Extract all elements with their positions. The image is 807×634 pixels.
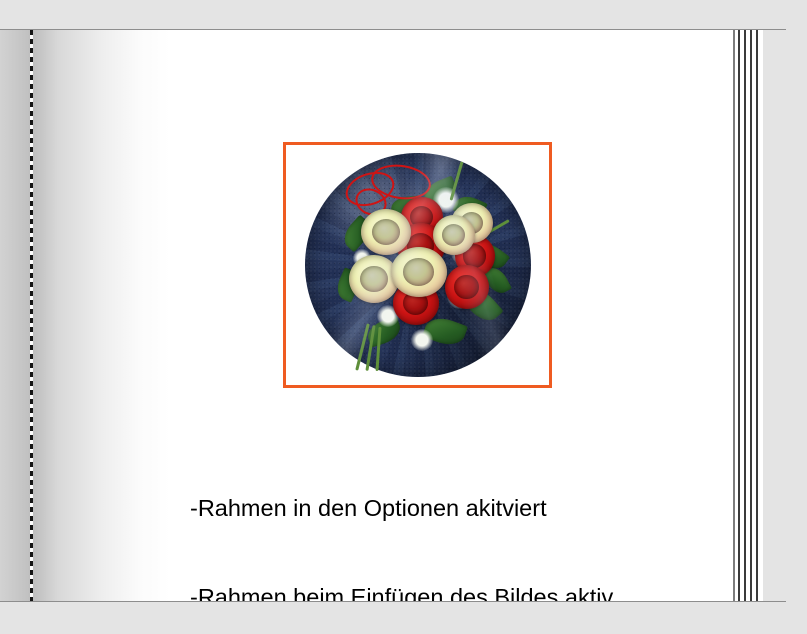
rose-cream — [391, 247, 447, 297]
photo-canvas — [292, 151, 543, 379]
book-page: -Rahmen in den Optionen akitviert -Rahme… — [0, 29, 786, 602]
dashed-binding-line-icon — [30, 30, 33, 601]
page-right-margin — [763, 30, 786, 601]
slide-stage: -Rahmen in den Optionen akitviert -Rahme… — [0, 0, 807, 634]
page-stack-line-4 — [750, 30, 752, 601]
bullet-line-1: -Rahmen in den Optionen akitviert — [190, 494, 690, 524]
page-stack-line-5 — [756, 30, 758, 601]
page-stack-line-1 — [733, 30, 735, 601]
bouquet-image — [305, 153, 531, 377]
filler-flower — [411, 329, 433, 351]
page-stack-edges — [733, 30, 763, 601]
page-stack-line-3 — [744, 30, 746, 601]
rose-cream — [361, 209, 411, 255]
rose-red — [445, 265, 489, 309]
rose-cream — [433, 215, 475, 255]
bullet-text-block: -Rahmen in den Optionen akitviert -Rahme… — [190, 435, 690, 602]
photo-frame[interactable] — [283, 142, 552, 388]
page-gutter-shading — [0, 30, 170, 601]
page-stack-line-2 — [738, 30, 740, 601]
bullet-line-2: -Rahmen beim Einfügen des Bildes aktiv — [190, 583, 690, 603]
